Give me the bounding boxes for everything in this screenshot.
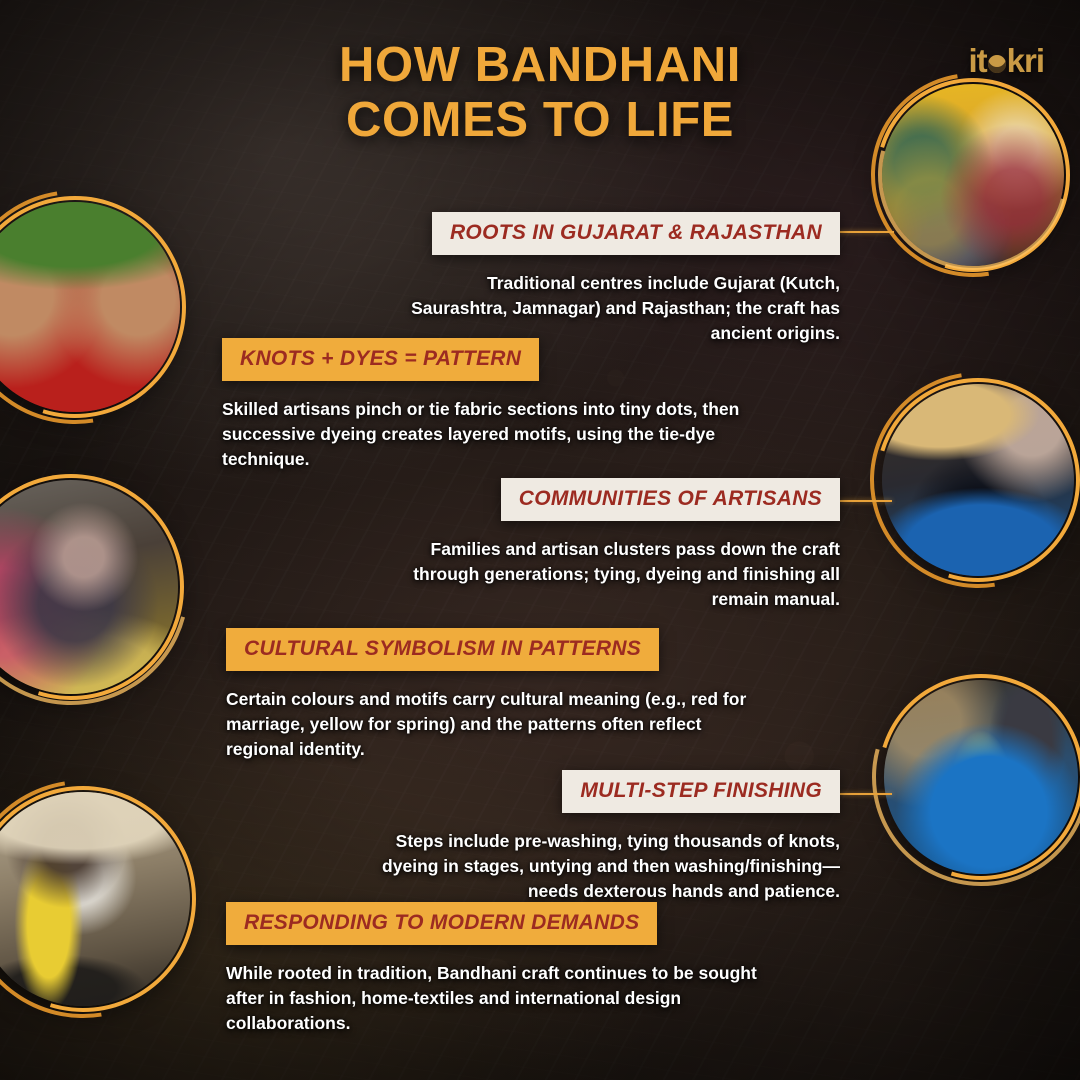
section-symbolism: CULTURAL SYMBOLISM IN PATTERNS Certain c… (226, 628, 766, 763)
photo-dyer-blue-tub (876, 378, 1080, 582)
page-title-line-2: COMES TO LIFE (0, 93, 1080, 148)
section-finishing-body: Steps include pre-washing, tying thousan… (380, 829, 840, 905)
logo-text-part-1: it (968, 42, 986, 80)
page-title-line-1: HOW BANDHANI (339, 38, 741, 92)
section-roots: ROOTS IN GUJARAT & RAJASTHAN Traditional… (400, 212, 840, 347)
page-title: HOW BANDHANI COMES TO LIFE (0, 38, 1080, 148)
section-symbolism-body: Certain colours and motifs carry cultura… (226, 687, 766, 763)
section-finishing-heading: MULTI-STEP FINISHING (562, 770, 840, 813)
logo-circle-icon (988, 55, 1006, 73)
section-communities: COMMUNITIES OF ARTISANS Families and art… (360, 478, 840, 613)
photo-hands-red-image (0, 202, 180, 412)
connector-line-finishing (840, 793, 892, 795)
infographic-poster: HOW BANDHANI COMES TO LIFE itkri ROOTS I… (0, 0, 1080, 1080)
photo-blue-vat-image (884, 680, 1078, 874)
photo-hands-red (0, 196, 186, 418)
section-communities-heading: COMMUNITIES OF ARTISANS (501, 478, 840, 521)
connector-line-roots (838, 231, 894, 233)
logo-text-part-2: kri (1007, 42, 1044, 80)
photo-blue-vat (878, 674, 1080, 880)
connector-line-communities (840, 500, 892, 502)
itokri-logo[interactable]: itkri (968, 42, 1044, 80)
section-communities-body: Families and artisan clusters pass down … (360, 537, 840, 613)
section-knots-body: Skilled artisans pinch or tie fabric sec… (222, 397, 742, 473)
section-modern-heading: RESPONDING TO MODERN DEMANDS (226, 902, 657, 945)
section-roots-heading: ROOTS IN GUJARAT & RAJASTHAN (432, 212, 840, 255)
photo-yellow-dye (0, 786, 196, 1012)
section-symbolism-heading: CULTURAL SYMBOLISM IN PATTERNS (226, 628, 659, 671)
photo-yellow-dye-image (0, 792, 190, 1006)
section-modern: RESPONDING TO MODERN DEMANDS While roote… (226, 902, 786, 1037)
section-finishing: MULTI-STEP FINISHING Steps include pre-w… (380, 770, 840, 905)
photo-woman-seated-image (0, 480, 178, 694)
photo-woman-seated (0, 474, 184, 700)
photo-dyer-blue-tub-image (882, 384, 1074, 576)
section-roots-body: Traditional centres include Gujarat (Kut… (400, 271, 840, 347)
section-knots: KNOTS + DYES = PATTERN Skilled artisans … (222, 338, 742, 473)
section-modern-body: While rooted in tradition, Bandhani craf… (226, 961, 786, 1037)
section-knots-heading: KNOTS + DYES = PATTERN (222, 338, 539, 381)
